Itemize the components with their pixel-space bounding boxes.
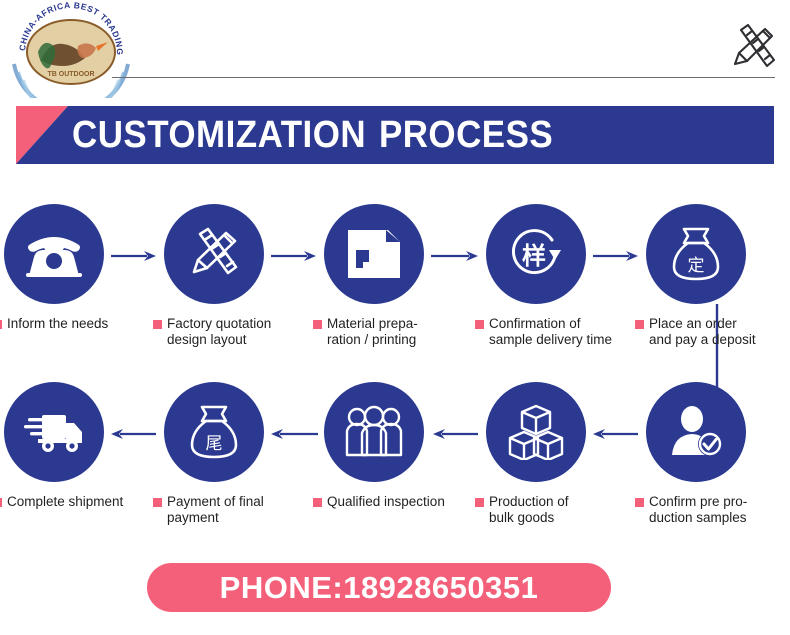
deposit-char: 定 [688,256,705,276]
bullet-marker [635,498,644,507]
bullet-marker [153,498,162,507]
page-title-word1: CUSTOMIZATION [72,114,366,157]
phone-contact-banner[interactable]: PHONE:18928650351 [147,563,611,612]
step-label: Complete shipment [0,494,153,510]
step-icon-circle [4,204,104,304]
step-icon-circle [486,382,586,482]
process-step-qualified-inspection[interactable]: Qualified inspection [313,382,473,510]
step-label-text: Confirm pre pro- duction samples [649,494,747,526]
boxes-icon [508,404,564,460]
bullet-marker [313,498,322,507]
step-label-text: Qualified inspection [327,494,445,510]
telephone-icon [25,229,83,279]
page-title-banner: CUSTOMIZATION PROCESS [16,106,774,164]
page-title: CUSTOMIZATION PROCESS [72,106,553,164]
process-step-complete-shipment[interactable]: Complete shipment [0,382,153,510]
step-icon-circle: 尾 [164,382,264,482]
step-icon-circle [646,382,746,482]
printer-icon [346,228,402,280]
step-label: Payment of final payment [153,494,313,526]
money-bag-final-icon: 尾 [188,403,240,461]
process-step-bulk-production[interactable]: Production of bulk goods [475,382,635,526]
bullet-marker [635,320,644,329]
person-check-icon [668,405,724,459]
step-label: Factory quotation design layout [153,316,313,348]
phone-number-text: PHONE:18928650351 [220,570,539,606]
bullet-marker [475,320,484,329]
step-label-text: Factory quotation design layout [167,316,271,348]
process-step-final-payment[interactable]: 尾 Payment of final payment [153,382,313,526]
step-label-text: Confirmation of sample delivery time [489,316,612,348]
sample-refresh-icon: 样 [507,226,565,282]
inspection-team-icon [344,405,404,459]
step-label-text: Production of bulk goods [489,494,569,526]
process-step-confirm-preproduction-samples[interactable]: Confirm pre pro- duction samples [635,382,790,526]
bullet-marker [0,498,2,507]
step-label: Confirm pre pro- duction samples [635,494,790,526]
sample-char: 样 [522,242,546,270]
ruler-pencil-icon [187,227,241,281]
customization-process-flow: Inform the needs [0,164,790,554]
step-icon-circle: 定 [646,204,746,304]
process-step-material-preparation[interactable]: Material prepa- ration / printing [313,204,473,348]
step-label: Material prepa- ration / printing [313,316,473,348]
china-africa-logo: CHINA-AFRICA BEST TRADING PLATFORM TB OU… [8,2,134,98]
step-label: Place an order and pay a deposit [635,316,790,348]
step-label-text: Inform the needs [7,316,108,332]
page-title-word2: PROCESS [379,114,553,157]
step-icon-circle [4,382,104,482]
process-step-factory-quotation[interactable]: Factory quotation design layout [153,204,313,348]
step-icon-circle: 样 [486,204,586,304]
step-label: Confirmation of sample delivery time [475,316,635,348]
step-label-text: Place an order and pay a deposit [649,316,756,348]
step-icon-circle [324,204,424,304]
step-label-text: Payment of final payment [167,494,264,526]
step-label-text: Material prepa- ration / printing [327,316,418,348]
step-icon-circle [164,204,264,304]
bullet-marker [153,320,162,329]
step-label: Production of bulk goods [475,494,635,526]
step-label: Inform the needs [0,316,153,332]
delivery-truck-icon [24,409,84,455]
logo-sub-text: TB OUTDOOR [47,71,94,78]
header-divider [112,77,775,78]
process-step-place-order-deposit[interactable]: 定 Place an order and pay a deposit [635,204,790,348]
bullet-marker [475,498,484,507]
step-label: Qualified inspection [313,494,473,510]
final-payment-char: 尾 [206,434,223,454]
process-step-sample-confirmation[interactable]: 样 Confirmation of sample delivery time [475,204,635,348]
step-icon-circle [324,382,424,482]
step-label-text: Complete shipment [7,494,123,510]
process-step-inform-the-needs[interactable]: Inform the needs [0,204,153,332]
page-header: CHINA-AFRICA BEST TRADING PLATFORM TB OU… [0,0,790,100]
bullet-marker [0,320,2,329]
money-bag-deposit-icon: 定 [670,225,722,283]
ruler-pencil-icon [727,22,779,72]
bullet-marker [313,320,322,329]
